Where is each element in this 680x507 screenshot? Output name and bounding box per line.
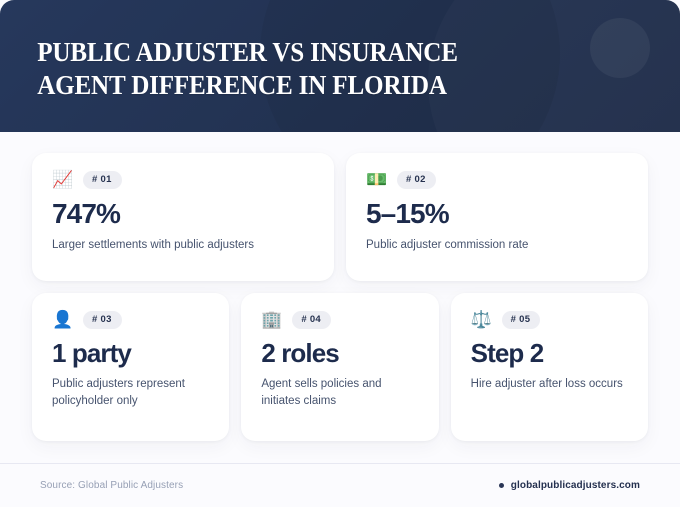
status-badge: # 02: [397, 171, 436, 189]
status-badge: # 04: [292, 311, 331, 329]
card-header: ⚖️ # 05: [471, 311, 628, 329]
stat-card-02[interactable]: 💵 # 02 5–15% Public adjuster commission …: [346, 153, 648, 281]
stat-card-04[interactable]: 🏢 # 04 2 roles Agent sells policies and …: [241, 293, 438, 441]
stat-card-01[interactable]: 📈 # 01 747% Larger settlements with publ…: [32, 153, 334, 281]
cards-area: 📈 # 01 747% Larger settlements with publ…: [0, 132, 680, 463]
stat-description: Larger settlements with public adjusters: [52, 237, 314, 254]
card-header: 📈 # 01: [52, 171, 314, 189]
stat-value: 5–15%: [366, 199, 628, 230]
dollar-banknote-icon: 💵: [366, 171, 386, 188]
status-badge: # 01: [83, 171, 122, 189]
stat-description: Hire adjuster after loss occurs: [471, 376, 628, 393]
stat-value: 2 roles: [261, 339, 418, 368]
status-badge: # 05: [502, 311, 541, 329]
card-header: 🏢 # 04: [261, 311, 418, 329]
source-label: Source: Global Public Adjusters: [40, 480, 183, 491]
footer-bar: Source: Global Public Adjusters globalpu…: [0, 463, 680, 507]
website-label: globalpublicadjusters.com: [511, 480, 640, 491]
card-header: 👤 # 03: [52, 311, 209, 329]
balance-scale-icon: ⚖️: [471, 311, 491, 328]
office-building-icon: 🏢: [261, 311, 281, 328]
cards-row-top: 📈 # 01 747% Larger settlements with publ…: [32, 153, 648, 281]
card-header: 💵 # 02: [366, 171, 628, 189]
stat-description: Agent sells policies and initiates claim…: [261, 376, 418, 409]
stat-card-03[interactable]: 👤 # 03 1 party Public adjusters represen…: [32, 293, 229, 441]
cards-row-bottom: 👤 # 03 1 party Public adjusters represen…: [32, 293, 648, 441]
status-badge: # 03: [83, 311, 122, 329]
page-title: PUBLIC ADJUSTER VS INSURANCE AGENT DIFFE…: [0, 0, 632, 102]
person-bust-icon: 👤: [52, 311, 72, 328]
stat-value: 747%: [52, 199, 314, 230]
stat-value: Step 2: [471, 339, 628, 368]
stat-card-05[interactable]: ⚖️ # 05 Step 2 Hire adjuster after loss …: [451, 293, 648, 441]
bullet-dot-icon: [499, 483, 504, 488]
stat-description: Public adjusters represent policyholder …: [52, 376, 209, 409]
header-banner: PUBLIC ADJUSTER VS INSURANCE AGENT DIFFE…: [0, 0, 680, 132]
stat-value: 1 party: [52, 339, 209, 368]
stat-description: Public adjuster commission rate: [366, 237, 628, 254]
infographic-root: PUBLIC ADJUSTER VS INSURANCE AGENT DIFFE…: [0, 0, 680, 507]
chart-increasing-icon: 📈: [52, 171, 72, 188]
website-link[interactable]: globalpublicadjusters.com: [499, 480, 640, 491]
